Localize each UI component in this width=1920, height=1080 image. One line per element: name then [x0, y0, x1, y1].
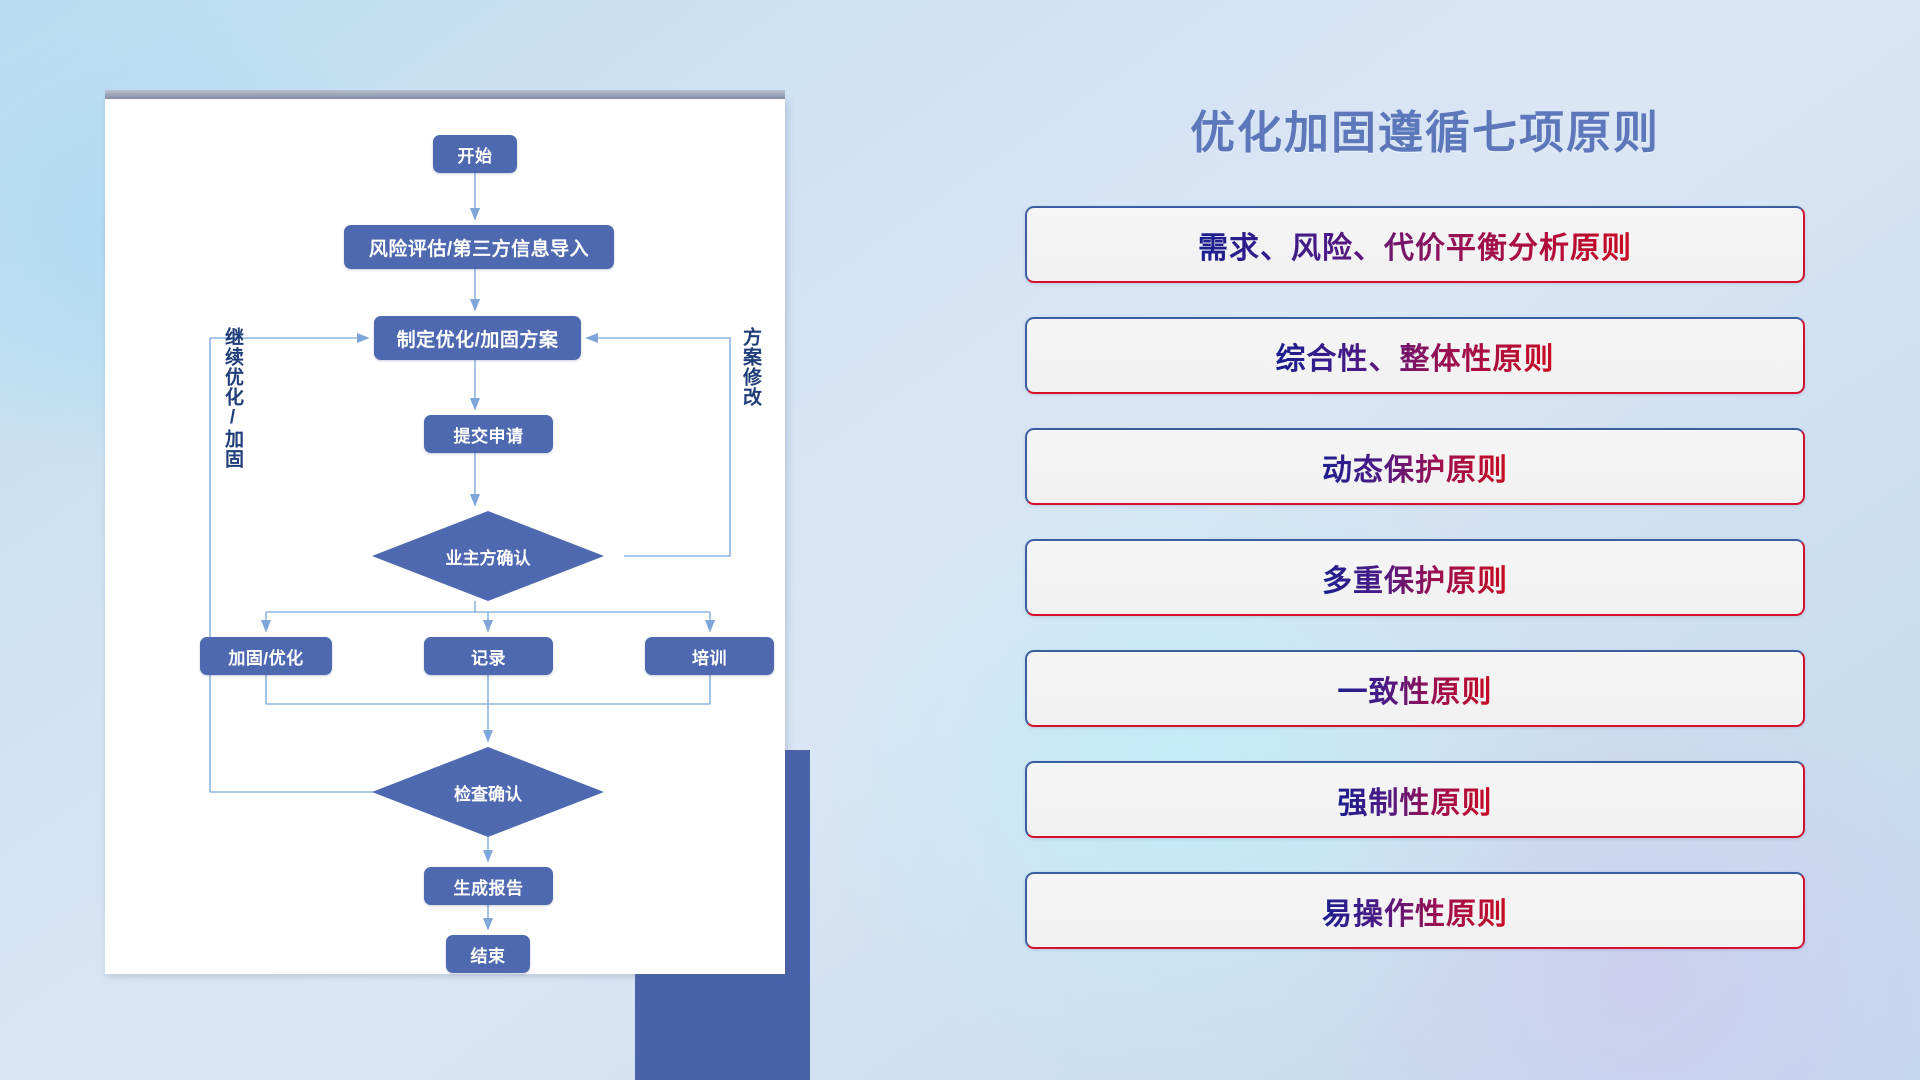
principle-card[interactable]: 易操作性原则 — [1025, 872, 1805, 949]
flow-node-label: 生成报告 — [454, 874, 524, 899]
flow-edge-label-continue-optimize: 继续优化/加固 — [223, 327, 242, 469]
flow-node-generate-report: 生成报告 — [424, 867, 553, 905]
principle-label: 一致性原则 — [1338, 667, 1493, 711]
principle-label: 综合性、整体性原则 — [1276, 334, 1555, 378]
flowchart-canvas: 开始 风险评估/第三方信息导入 制定优化/加固方案 提交申请 业主方确认 加固/… — [105, 99, 785, 974]
flow-node-submit-application: 提交申请 — [424, 415, 553, 453]
principle-label: 易操作性原则 — [1322, 889, 1508, 933]
flow-node-label: 记录 — [471, 644, 506, 669]
flow-node-reinforce: 加固/优化 — [200, 637, 332, 675]
flow-node-check-confirm: 检查确认 — [372, 747, 604, 837]
principle-card[interactable]: 需求、风险、代价平衡分析原则 — [1025, 206, 1805, 283]
flow-node-label: 提交申请 — [454, 422, 524, 447]
principle-label: 多重保护原则 — [1322, 556, 1508, 600]
flow-node-training: 培训 — [645, 637, 774, 675]
flow-node-label: 培训 — [692, 644, 727, 669]
card-top-bar — [105, 90, 785, 99]
flow-node-owner-confirm: 业主方确认 — [372, 511, 604, 601]
flow-node-risk-assessment: 风险评估/第三方信息导入 — [344, 225, 614, 269]
principles-panel: 优化加固遵循七项原则 需求、风险、代价平衡分析原则 综合性、整体性原则 动态保护… — [1020, 96, 1830, 996]
flow-node-plan: 制定优化/加固方案 — [374, 316, 581, 360]
principle-card[interactable]: 综合性、整体性原则 — [1025, 317, 1805, 394]
principle-card[interactable]: 多重保护原则 — [1025, 539, 1805, 616]
flowchart-panel: 开始 风险评估/第三方信息导入 制定优化/加固方案 提交申请 业主方确认 加固/… — [105, 90, 785, 970]
flow-node-label: 风险评估/第三方信息导入 — [369, 234, 589, 261]
flow-node-start: 开始 — [433, 135, 517, 173]
flow-node-label: 结束 — [471, 942, 506, 967]
principle-label: 动态保护原则 — [1322, 445, 1508, 489]
flow-node-record: 记录 — [424, 637, 553, 675]
principle-card[interactable]: 一致性原则 — [1025, 650, 1805, 727]
flow-node-label: 检查确认 — [454, 780, 522, 805]
flow-edge-label-plan-revision: 方案修改 — [741, 327, 760, 407]
principle-label: 强制性原则 — [1338, 778, 1493, 822]
principle-card[interactable]: 强制性原则 — [1025, 761, 1805, 838]
page-title: 优化加固遵循七项原则 — [1020, 96, 1830, 161]
flow-node-label: 加固/优化 — [228, 644, 303, 669]
flow-node-label: 制定优化/加固方案 — [397, 325, 559, 352]
flow-node-label: 业主方确认 — [446, 544, 531, 569]
principle-label: 需求、风险、代价平衡分析原则 — [1198, 223, 1632, 267]
flow-node-end: 结束 — [446, 935, 530, 973]
principle-card[interactable]: 动态保护原则 — [1025, 428, 1805, 505]
flow-node-label: 开始 — [458, 142, 493, 167]
